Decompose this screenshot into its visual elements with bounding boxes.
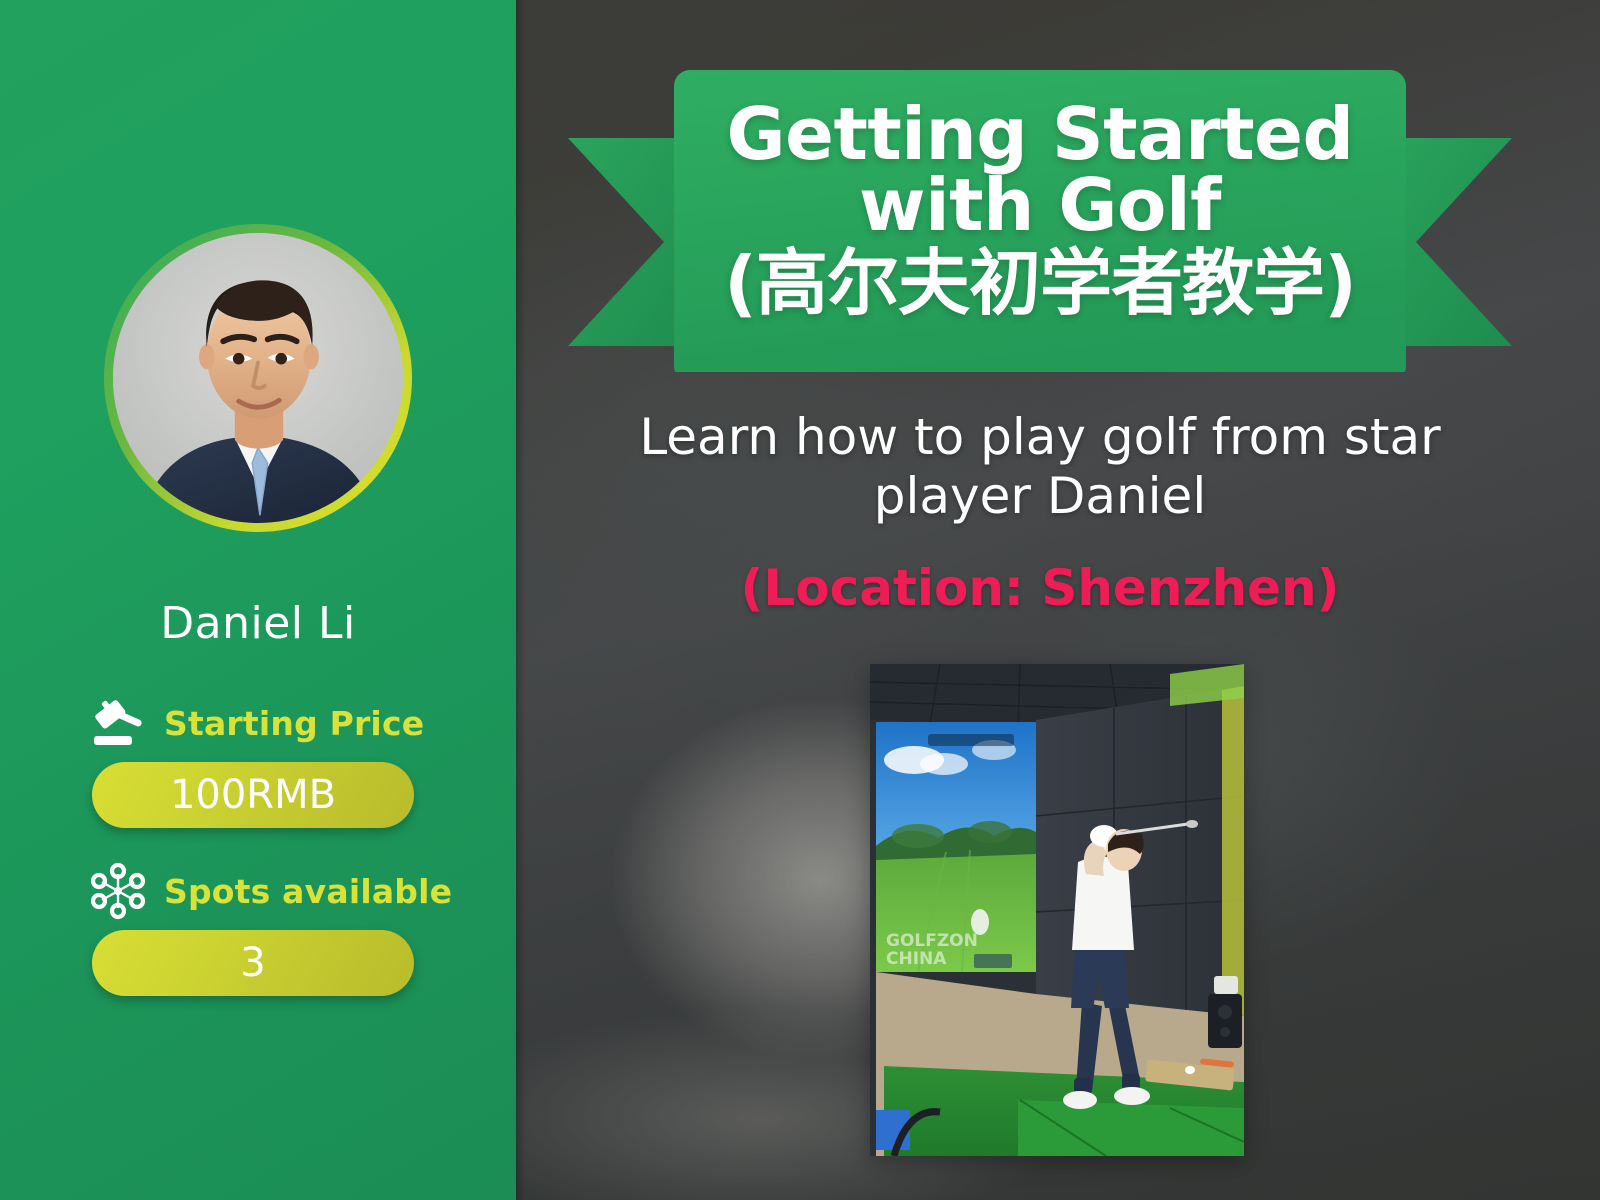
spots-available-value[interactable]: 3 xyxy=(92,930,414,996)
starting-price-row: Starting Price xyxy=(88,694,424,752)
network-hub-icon xyxy=(88,862,148,920)
spots-available-row: Spots available xyxy=(88,862,452,920)
screen-brand-line2: CHINA xyxy=(886,949,947,969)
instructor-name: Daniel Li xyxy=(0,598,516,649)
spots-available-label: Spots available xyxy=(164,872,452,911)
starting-price-value[interactable]: 100RMB xyxy=(92,762,414,828)
title-line-3: (高尔夫初学者教学) xyxy=(724,243,1356,324)
avatar xyxy=(113,233,403,523)
avatar-ring xyxy=(104,224,412,532)
title-ribbon: Getting Started with Golf (高尔夫初学者教学) xyxy=(560,50,1520,372)
title-line-1: Getting Started xyxy=(727,99,1354,170)
location-note: (Location: Shenzhen) xyxy=(576,560,1504,618)
ribbon-text-block: Getting Started with Golf (高尔夫初学者教学) xyxy=(560,50,1520,372)
title-line-2: with Golf xyxy=(859,169,1221,242)
golf-simulator-photo: GOLFZON CHINA xyxy=(870,664,1244,1156)
starting-price-label: Starting Price xyxy=(164,704,424,743)
gavel-icon xyxy=(88,694,148,752)
instructor-panel: Daniel Li Starting Price 100RMB xyxy=(0,0,516,1200)
screen-brand-line1: GOLFZON xyxy=(886,931,978,951)
portrait-photo-icon xyxy=(113,233,403,523)
poster-subtitle: Learn how to play golf from star player … xyxy=(576,408,1504,526)
golf-simulator-photo-icon: GOLFZON CHINA xyxy=(870,664,1244,1156)
golf-course-poster: Daniel Li Starting Price 100RMB xyxy=(0,0,1600,1200)
